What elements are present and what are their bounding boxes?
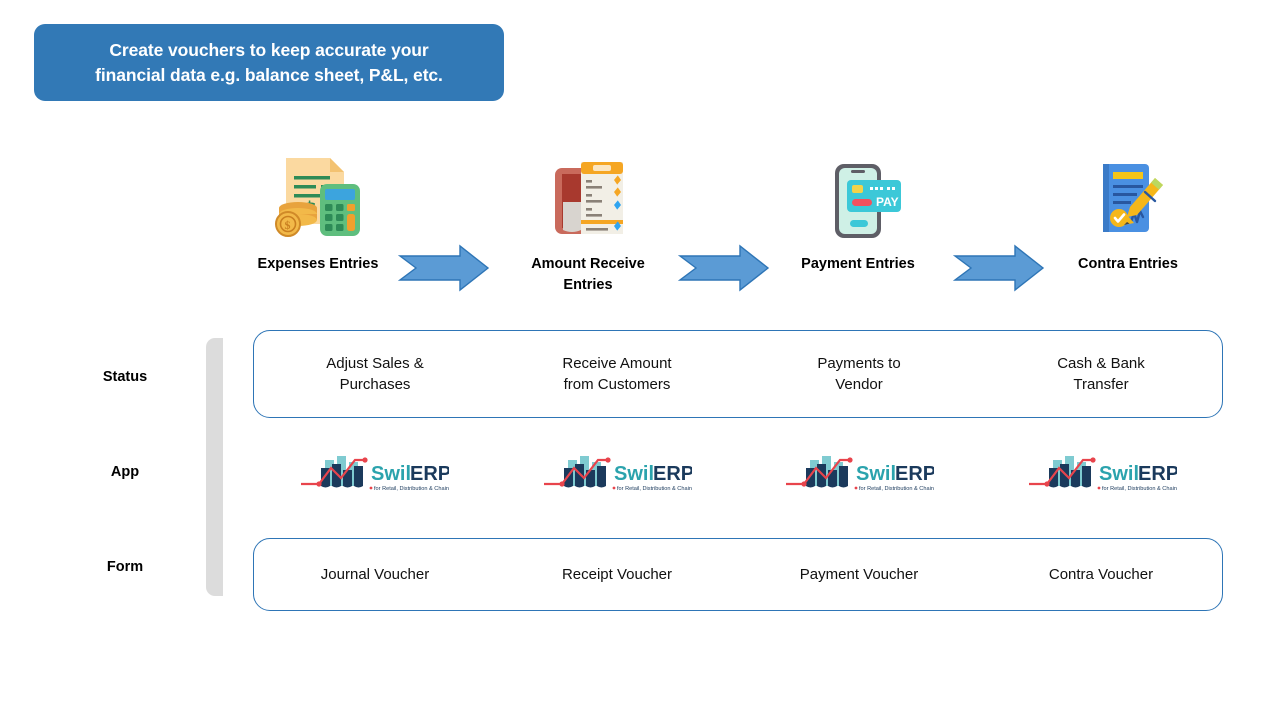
form-cell: Payment Voucher [738, 539, 980, 610]
svg-text:PAY: PAY [876, 195, 899, 209]
form-cell: Receipt Voucher [496, 539, 738, 610]
status-box: Adjust Sales & Purchases Receive Amount … [253, 330, 1223, 418]
step-label: Contra Entries [1078, 254, 1178, 275]
header-line-1: Create vouchers to keep accurate your [109, 40, 428, 60]
signed-document-pen-icon [1083, 150, 1173, 246]
step-contra-entries[interactable]: Contra Entries [1023, 150, 1233, 275]
svg-text:for Retail, Distribution & Cha: for Retail, Distribution & Chains [617, 486, 692, 492]
svg-text:Swil: Swil [371, 463, 411, 485]
header-banner-text: Create vouchers to keep accurate your fi… [95, 38, 443, 88]
header-line-2: financial data e.g. balance sheet, P&L, … [95, 65, 443, 85]
invoice-calculator-coins-icon: $ $ [268, 150, 368, 246]
form-box: Journal Voucher Receipt Voucher Payment … [253, 538, 1223, 611]
status-cell: Cash & Bank Transfer [980, 331, 1222, 417]
flow-arrow-3 [953, 244, 1045, 292]
mobile-card-pay-icon: PAY [813, 150, 903, 246]
row-label-app: App [60, 464, 190, 480]
flow-arrow-2 [678, 244, 770, 292]
step-payment-entries[interactable]: PAY Payment Entries [753, 150, 963, 275]
flow-arrow-1 [398, 244, 490, 292]
app-logo-row: Swil ERP for Retail, Distribution & Chai… [253, 448, 1223, 504]
step-label: Payment Entries [801, 254, 915, 275]
svg-text:Swil: Swil [614, 463, 654, 485]
swilerp-logo: Swil ERP for Retail, Distribution & Chai… [496, 448, 739, 504]
svg-text:for Retail, Distribution & Cha: for Retail, Distribution & Chains [859, 486, 934, 492]
step-expenses-entries[interactable]: $ $ Expenses Entries [213, 150, 423, 275]
status-cell: Payments to Vendor [738, 331, 980, 417]
step-label: Amount Receive Entries [531, 254, 645, 296]
svg-text:$: $ [285, 218, 291, 232]
section-bracket [206, 338, 223, 596]
svg-text:ERP: ERP [1138, 463, 1177, 485]
header-banner: Create vouchers to keep accurate your fi… [34, 24, 504, 101]
svg-text:for Retail, Distribution & Cha: for Retail, Distribution & Chains [374, 486, 449, 492]
svg-text:ERP: ERP [410, 463, 449, 485]
svg-text:ERP: ERP [895, 463, 934, 485]
svg-text:Swil: Swil [1099, 463, 1139, 485]
status-cell: Adjust Sales & Purchases [254, 331, 496, 417]
step-label: Expenses Entries [258, 254, 379, 275]
svg-text:for Retail, Distribution & Cha: for Retail, Distribution & Chains [1102, 486, 1177, 492]
swilerp-logo: Swil ERP for Retail, Distribution & Chai… [253, 448, 496, 504]
row-label-form: Form [60, 559, 190, 575]
form-cell: Journal Voucher [254, 539, 496, 610]
swilerp-logo: Swil ERP for Retail, Distribution & Chai… [981, 448, 1224, 504]
receipt-checklist-icon [543, 150, 633, 246]
svg-text:ERP: ERP [653, 463, 692, 485]
swilerp-logo: Swil ERP for Retail, Distribution & Chai… [738, 448, 981, 504]
row-label-status: Status [60, 369, 190, 385]
form-cell: Contra Voucher [980, 539, 1222, 610]
step-amount-receive-entries[interactable]: Amount Receive Entries [483, 150, 693, 296]
svg-text:Swil: Swil [856, 463, 896, 485]
status-cell: Receive Amount from Customers [496, 331, 738, 417]
